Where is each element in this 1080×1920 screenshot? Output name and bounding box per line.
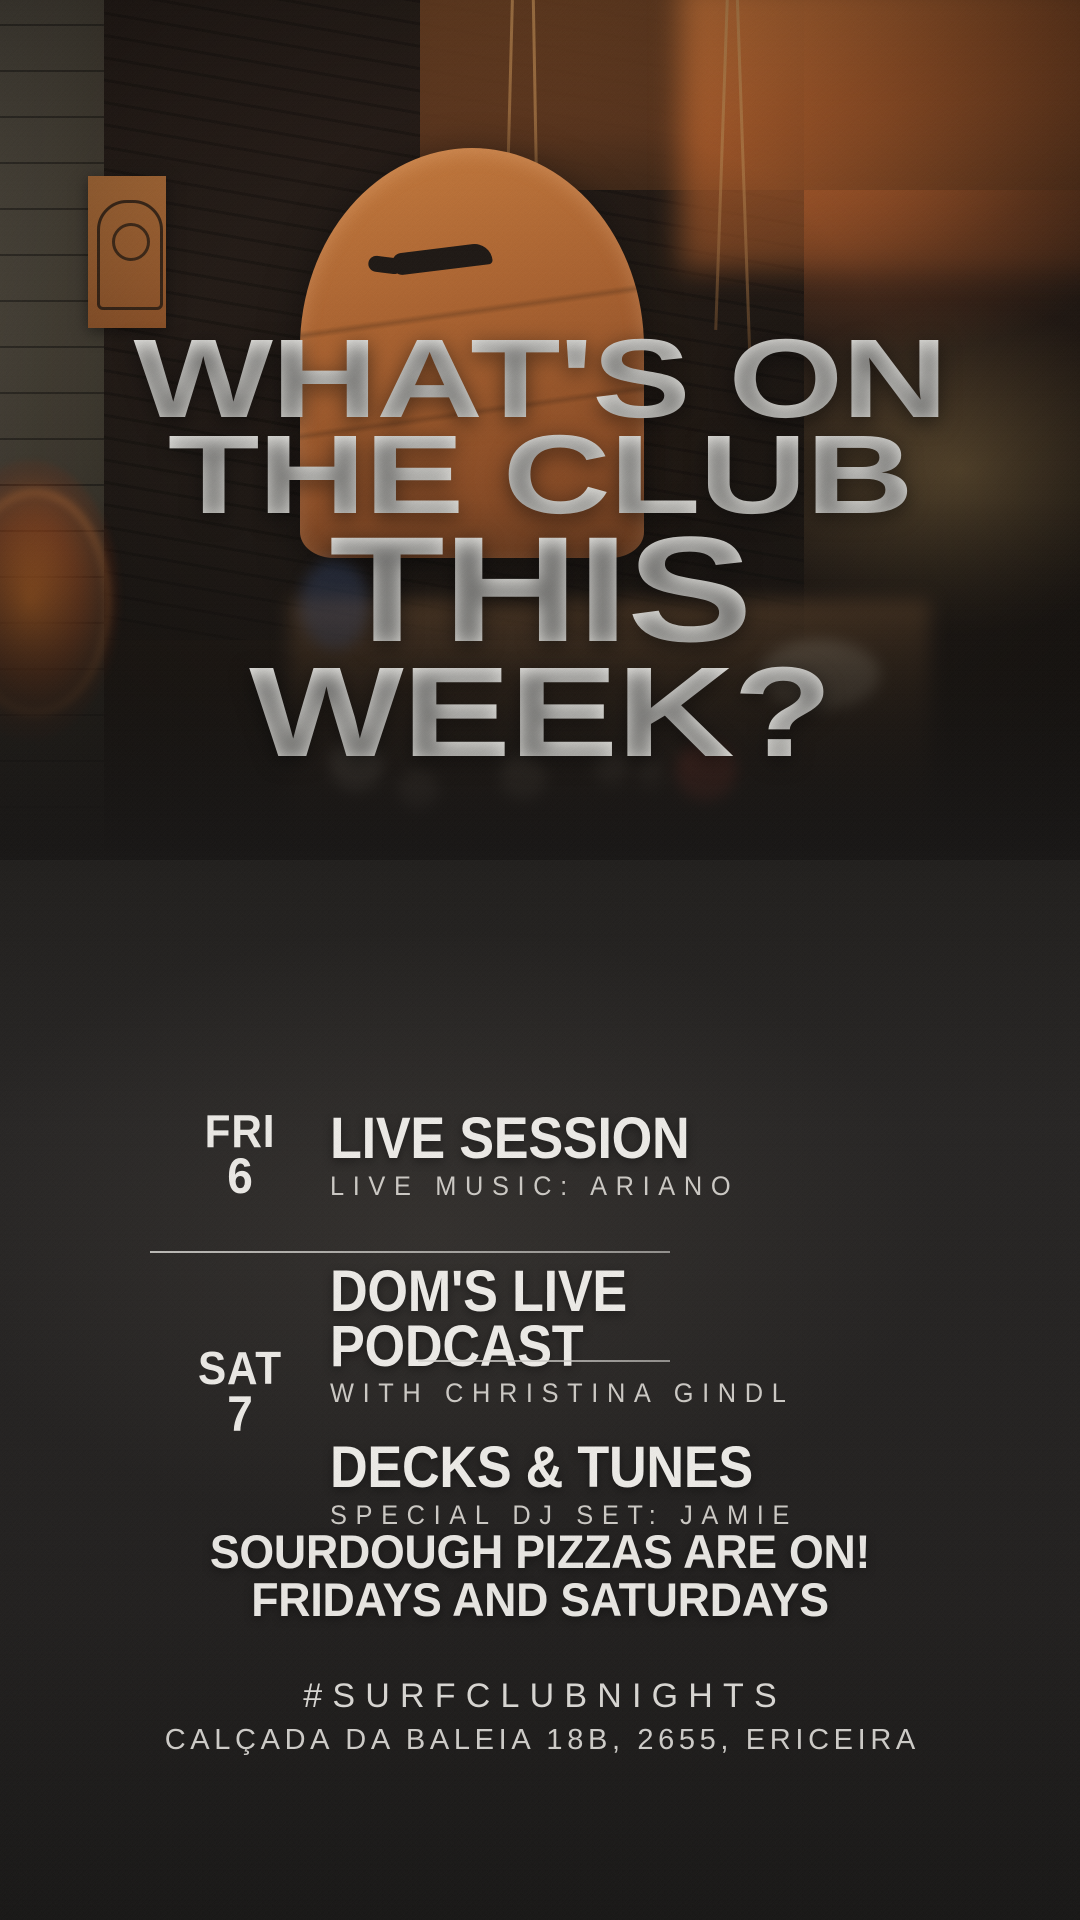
schedule-divider [418,1360,670,1362]
schedule-divider [150,1251,670,1253]
event-title: DECKS & TUNES [330,1441,888,1496]
day-number: 6 [157,1152,323,1201]
day-column: FRI 6 [150,1110,330,1201]
headline: WHAT'S ON THE CLUB THIS WEEK? [0,334,1080,766]
day-column: SAT 7 [150,1263,330,1438]
schedule-list: FRI 6 LIVE SESSION LIVE MUSIC: ARIANO SA… [150,1110,950,1529]
schedule-row: FRI 6 LIVE SESSION LIVE MUSIC: ARIANO [150,1110,950,1201]
promo-line-2: FRIDAYS AND SATURDAYS [27,1576,1053,1624]
headline-line-4: WEEK? [0,661,1080,766]
day-number: 7 [157,1390,323,1439]
promo-note: SOURDOUGH PIZZAS ARE ON! FRIDAYS AND SAT… [0,1528,1080,1624]
day-name: FRI [157,1110,323,1152]
promo-line-1: SOURDOUGH PIZZAS ARE ON! [27,1528,1053,1576]
schedule-row: SAT 7 DOM'S LIVE PODCAST WITH CHRISTINA … [150,1263,950,1529]
hashtag: #SURFCLUBNIGHTS [0,1678,1080,1715]
event-title: LIVE SESSION [330,1112,888,1167]
event-subtitle: LIVE MUSIC: ARIANO [330,1173,913,1200]
event-column: DOM'S LIVE PODCAST WITH CHRISTINA GINDL … [330,1263,950,1529]
poster-footer: #SURFCLUBNIGHTS CALÇADA DA BALEIA 18B, 2… [0,1678,1080,1757]
event-poster: WHAT'S ON THE CLUB THIS WEEK? FRI 6 LIVE… [0,0,1080,1920]
headline-line-3: THIS [0,529,1080,649]
event-column: LIVE SESSION LIVE MUSIC: ARIANO [330,1110,950,1200]
event-subtitle: WITH CHRISTINA GINDL [330,1380,913,1407]
venue-address: CALÇADA DA BALEIA 18B, 2655, ERICEIRA [0,1725,1080,1757]
day-name: SAT [157,1347,323,1389]
event-title: DOM'S LIVE PODCAST [330,1265,888,1374]
headline-line-1: WHAT'S ON [0,334,1080,424]
